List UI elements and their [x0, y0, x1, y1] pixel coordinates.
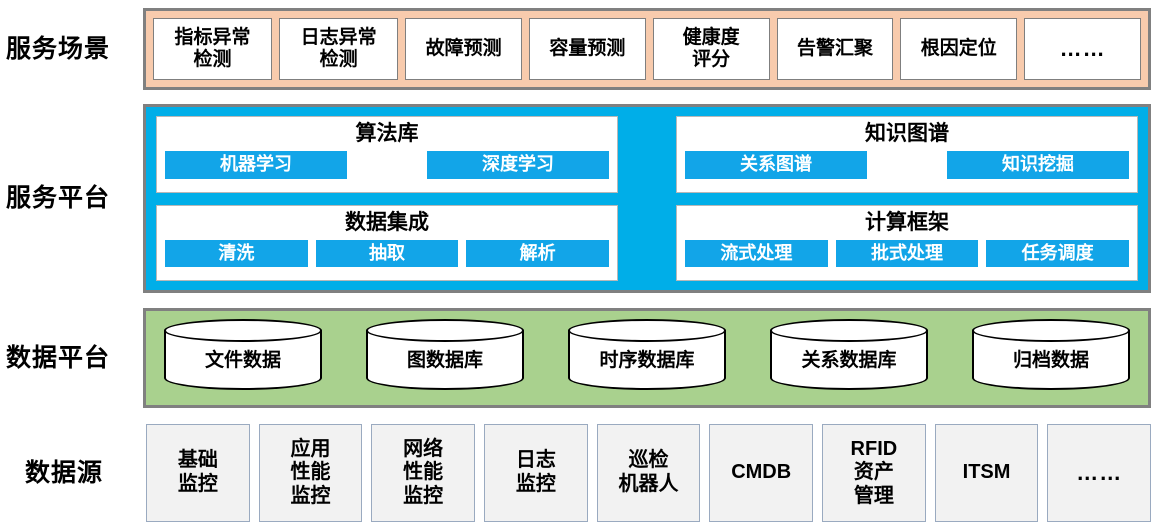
scenario-box-alarm-aggregation[interactable]: 告警汇聚	[777, 18, 894, 80]
data-store-list: 文件数据 图数据库 时序数据库 关系数据库 归档数据	[164, 320, 1130, 396]
service-scenario-box-list: 指标异常 检测 日志异常 检测 故障预测 容量预测 健康度 评分 告警汇聚 根因…	[153, 18, 1141, 80]
pill-extraction[interactable]: 抽取	[316, 240, 459, 268]
module-title-knowledge-graph: 知识图谱	[865, 122, 949, 145]
service-scenario-band: 指标异常 检测 日志异常 检测 故障预测 容量预测 健康度 评分 告警汇聚 根因…	[143, 8, 1151, 90]
module-card-algorithm-library[interactable]: 算法库 机器学习 深度学习	[156, 116, 618, 193]
pill-parsing[interactable]: 解析	[466, 240, 609, 268]
pill-knowledge-mining[interactable]: 知识挖掘	[947, 151, 1129, 179]
data-source-box-list: 基础 监控 应用 性能 监控 网络 性能 监控 日志 监控 巡检 机器人 CMD…	[146, 424, 1151, 522]
architecture-diagram: 服务场景 服务平台 数据平台 数据源 指标异常 检测 日志异常 检测 故障预测 …	[0, 0, 1159, 530]
data-store-label: 时序数据库	[568, 319, 726, 397]
row-label-service-platform: 服务平台	[6, 185, 138, 213]
data-store-label: 归档数据	[972, 319, 1130, 397]
service-platform-module-grid: 算法库 机器学习 深度学习 知识图谱 关系图谱 知识挖掘 数据集成 清洗	[156, 116, 1138, 281]
pill-deep-learning[interactable]: 深度学习	[427, 151, 609, 179]
data-store-timeseries-database[interactable]: 时序数据库	[568, 319, 726, 397]
source-box-network-performance-monitoring[interactable]: 网络 性能 监控	[371, 424, 475, 522]
pill-row-knowledge-graph: 关系图谱 知识挖掘	[677, 151, 1137, 179]
source-box-itsm[interactable]: ITSM	[935, 424, 1039, 522]
source-box-infrastructure-monitoring[interactable]: 基础 监控	[146, 424, 250, 522]
source-box-inspection-robot[interactable]: 巡检 机器人	[597, 424, 701, 522]
pill-row-data-integration: 清洗 抽取 解析	[157, 240, 617, 268]
row-label-service-scenario: 服务场景	[6, 36, 138, 64]
source-box-more[interactable]: ……	[1047, 424, 1151, 522]
source-box-cmdb[interactable]: CMDB	[709, 424, 813, 522]
source-box-application-performance-monitoring[interactable]: 应用 性能 监控	[259, 424, 363, 522]
scenario-box-capacity-prediction[interactable]: 容量预测	[529, 18, 646, 80]
data-platform-band: 文件数据 图数据库 时序数据库 关系数据库 归档数据	[143, 308, 1151, 408]
data-store-label: 图数据库	[366, 319, 524, 397]
pill-batch-processing[interactable]: 批式处理	[836, 240, 979, 268]
scenario-box-metric-anomaly-detection[interactable]: 指标异常 检测	[153, 18, 272, 80]
pill-task-scheduling[interactable]: 任务调度	[986, 240, 1129, 268]
module-title-computing-framework: 计算框架	[865, 211, 949, 234]
data-store-file-data[interactable]: 文件数据	[164, 319, 322, 397]
pill-stream-processing[interactable]: 流式处理	[685, 240, 828, 268]
source-box-rfid-asset-management[interactable]: RFID 资产 管理	[822, 424, 926, 522]
scenario-box-log-anomaly-detection[interactable]: 日志异常 检测	[279, 18, 398, 80]
module-card-data-integration[interactable]: 数据集成 清洗 抽取 解析	[156, 205, 618, 282]
service-platform-band: 算法库 机器学习 深度学习 知识图谱 关系图谱 知识挖掘 数据集成 清洗	[143, 104, 1151, 293]
scenario-box-fault-prediction[interactable]: 故障预测	[405, 18, 522, 80]
data-store-relational-database[interactable]: 关系数据库	[770, 319, 928, 397]
source-box-log-monitoring[interactable]: 日志 监控	[484, 424, 588, 522]
pill-relation-graph[interactable]: 关系图谱	[685, 151, 867, 179]
scenario-box-root-cause-location[interactable]: 根因定位	[900, 18, 1017, 80]
scenario-box-health-score[interactable]: 健康度 评分	[653, 18, 770, 80]
scenario-box-more[interactable]: ……	[1024, 18, 1141, 80]
module-title-data-integration: 数据集成	[345, 211, 429, 234]
data-store-graph-database[interactable]: 图数据库	[366, 319, 524, 397]
pill-cleansing[interactable]: 清洗	[165, 240, 308, 268]
module-title-algorithm-library: 算法库	[356, 122, 419, 145]
row-label-data-platform: 数据平台	[6, 345, 138, 373]
pill-machine-learning[interactable]: 机器学习	[165, 151, 347, 179]
pill-row-algorithm-library: 机器学习 深度学习	[157, 151, 617, 179]
row-label-data-source: 数据源	[25, 460, 157, 488]
pill-row-computing-framework: 流式处理 批式处理 任务调度	[677, 240, 1137, 268]
data-store-label: 文件数据	[164, 319, 322, 397]
module-card-computing-framework[interactable]: 计算框架 流式处理 批式处理 任务调度	[676, 205, 1138, 282]
module-card-knowledge-graph[interactable]: 知识图谱 关系图谱 知识挖掘	[676, 116, 1138, 193]
data-store-archive-data[interactable]: 归档数据	[972, 319, 1130, 397]
data-store-label: 关系数据库	[770, 319, 928, 397]
